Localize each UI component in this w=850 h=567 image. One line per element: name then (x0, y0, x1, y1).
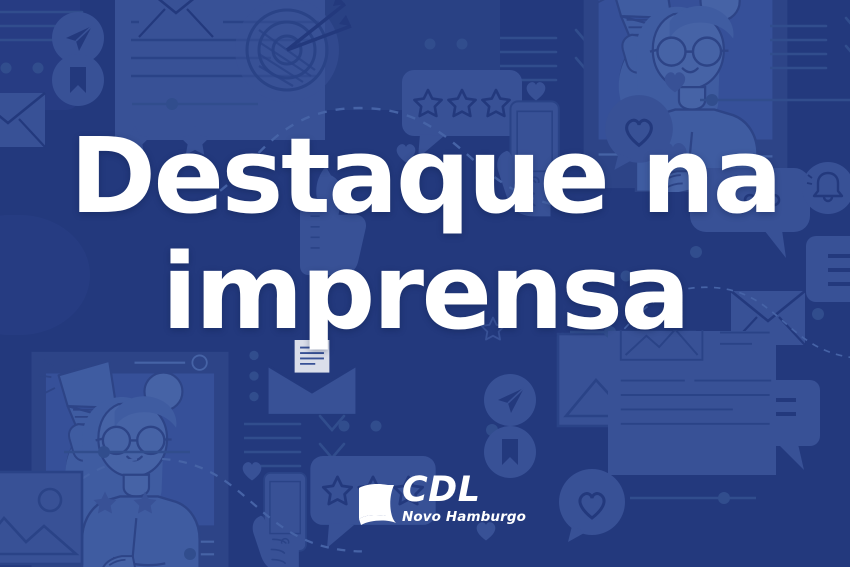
page-title: Destaque na imprensa (0, 118, 850, 350)
cdl-brand-name: CDL (402, 474, 526, 507)
cdl-logo-subtitle: Novo Hamburgo (402, 509, 526, 525)
press-highlight-banner: Destaque na imprensa CDL Novo Hamburgo (0, 0, 850, 567)
cdl-logo: CDL Novo Hamburgo (356, 474, 526, 530)
headline-line-1: Destaque na (0, 118, 850, 234)
headline-line-2: imprensa (0, 234, 850, 350)
cdl-page-mark-icon (356, 480, 404, 528)
cdl-logo-text: CDL Novo Hamburgo (402, 474, 526, 525)
